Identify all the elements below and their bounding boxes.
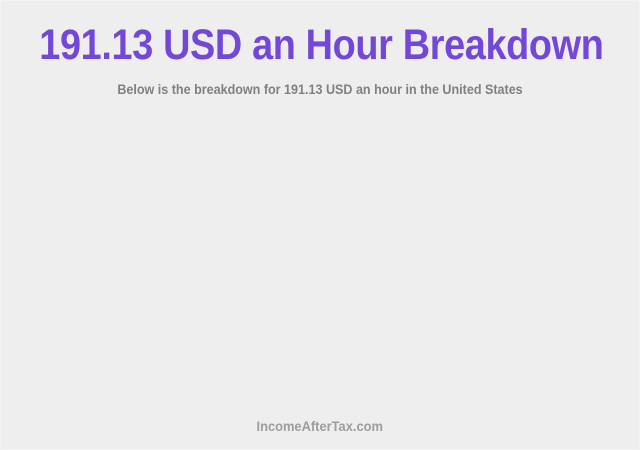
page-title: 191.13 USD an Hour Breakdown: [39, 22, 600, 68]
footer: IncomeAfterTax.com: [1, 418, 639, 449]
page-subtitle: Below is the breakdown for 191.13 USD an…: [23, 68, 616, 97]
site-credit-label: IncomeAfterTax.com: [257, 419, 383, 434]
header: 191.13 USD an Hour Breakdown Below is th…: [1, 1, 639, 97]
breakdown-content-area: [1, 97, 639, 418]
breakdown-page: 191.13 USD an Hour Breakdown Below is th…: [0, 0, 640, 450]
